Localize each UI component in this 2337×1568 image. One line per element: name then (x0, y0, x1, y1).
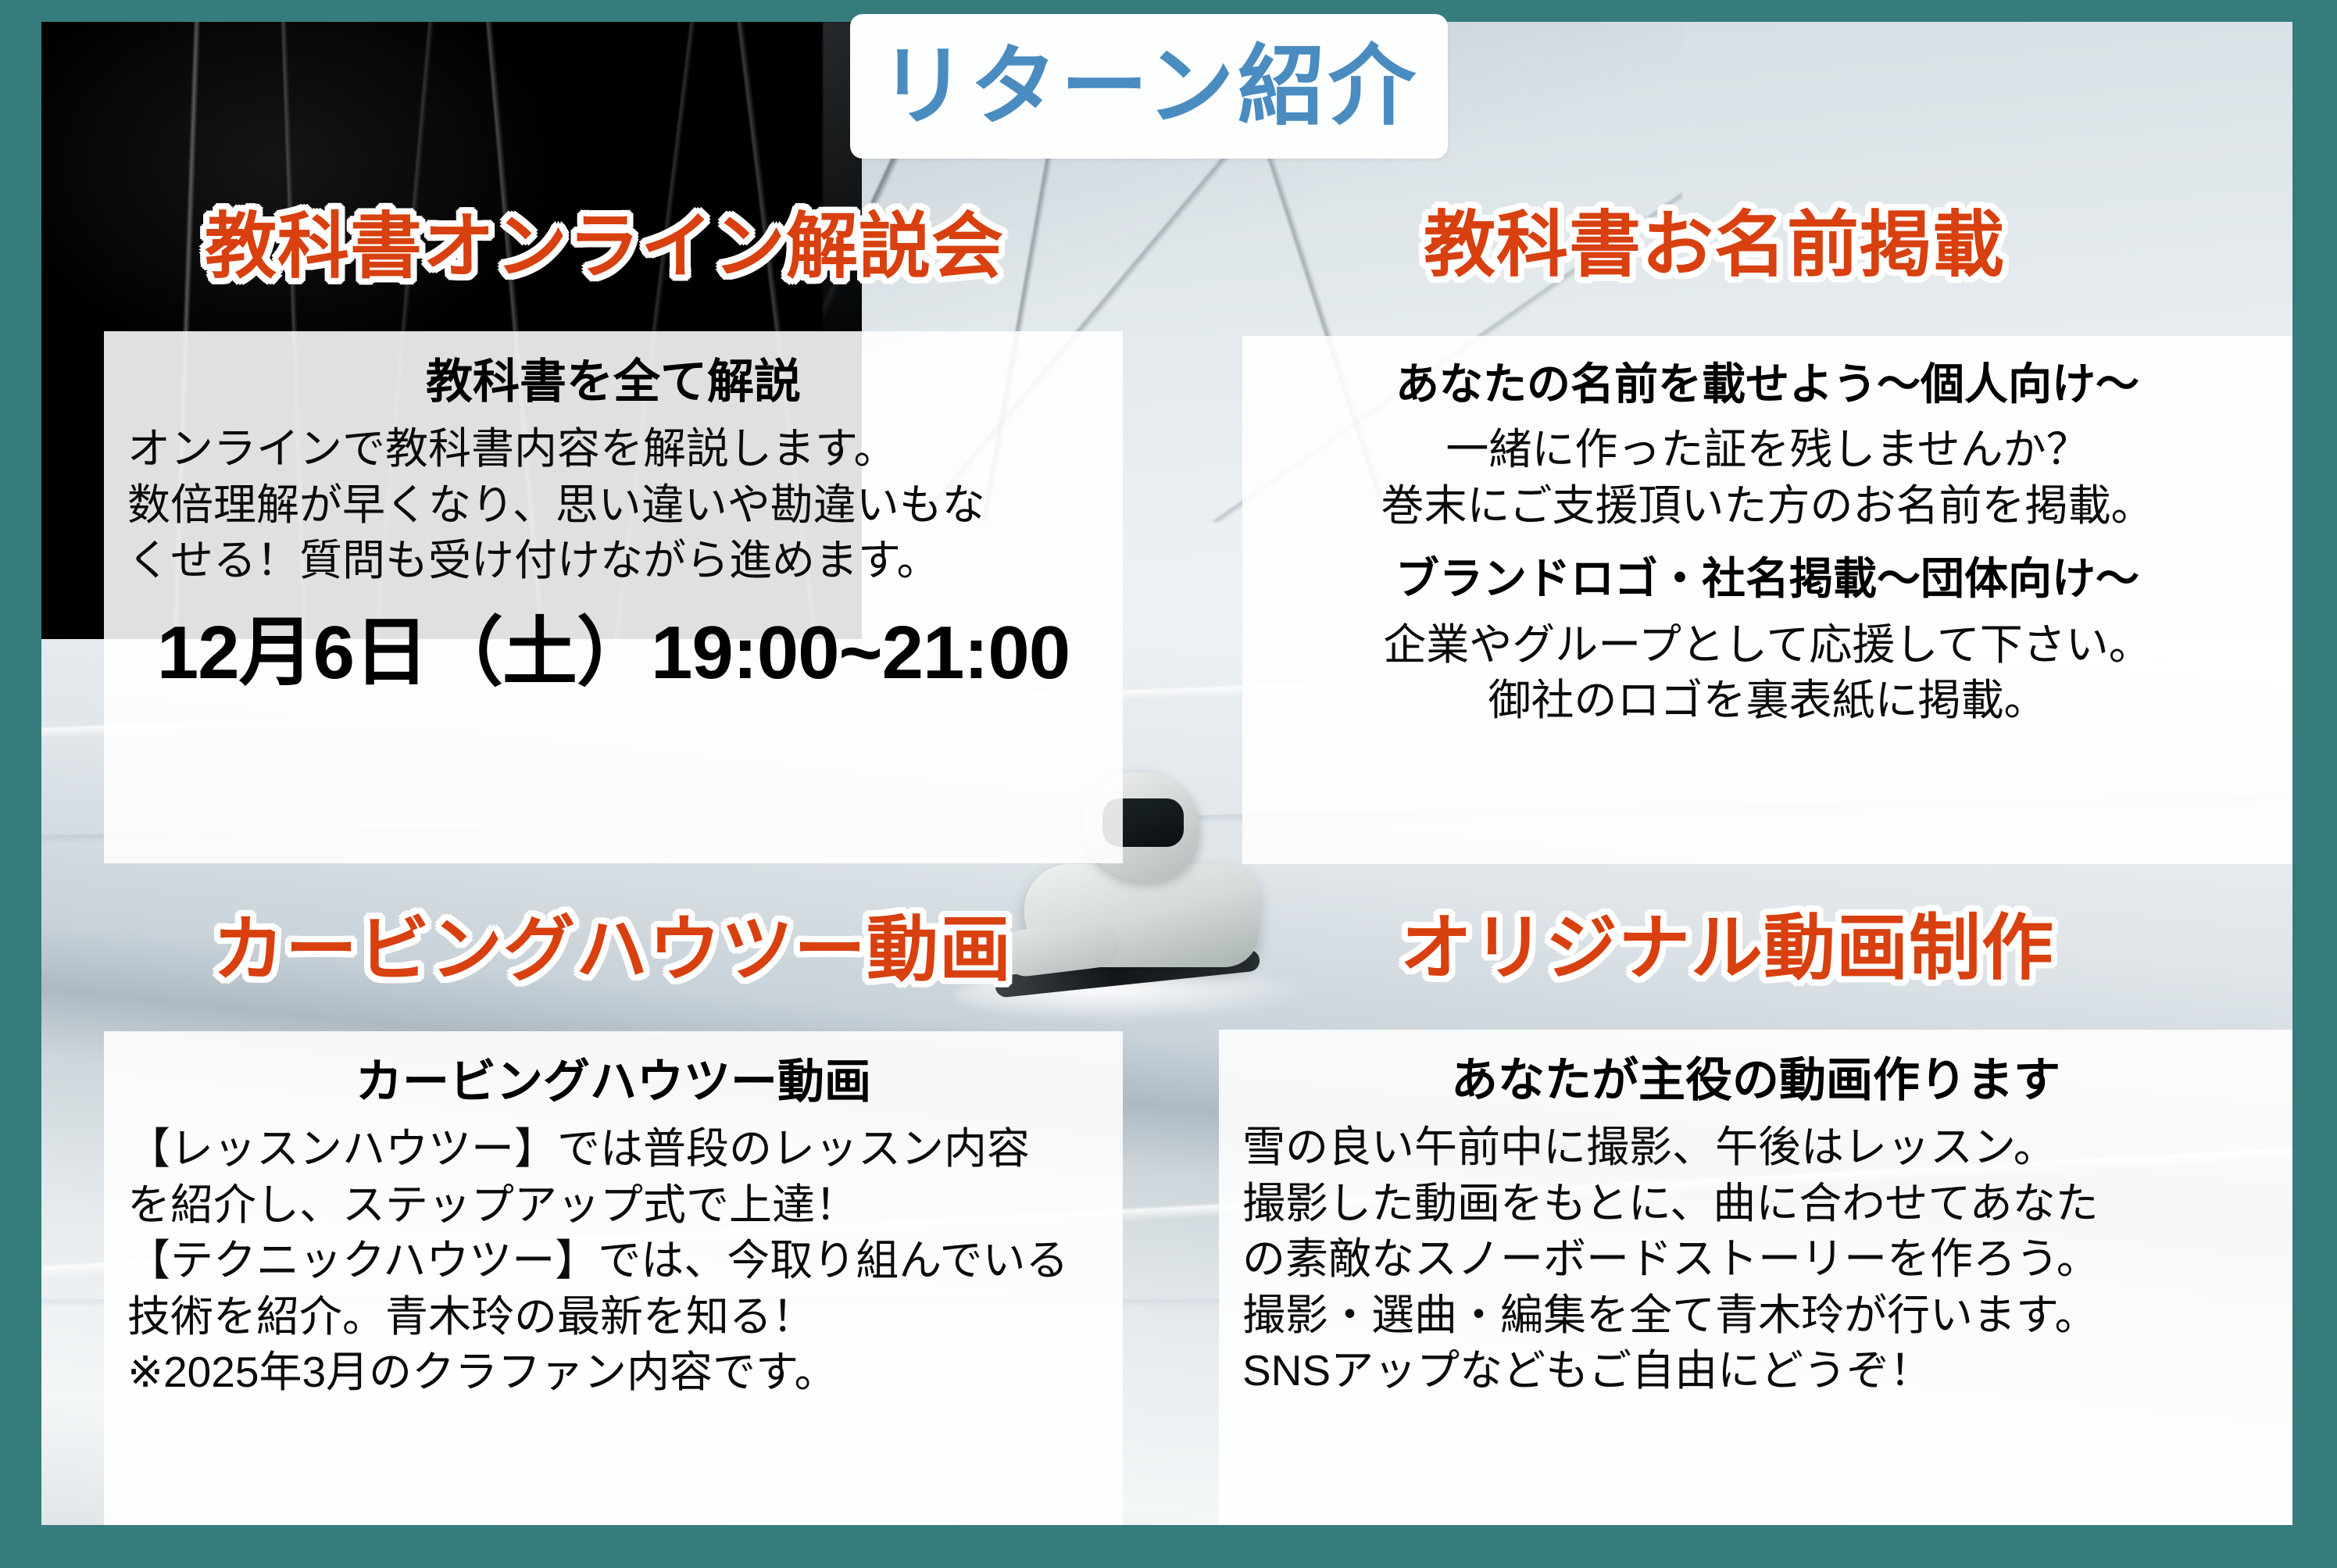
card-original-video: あなたが主役の動画作ります 雪の良い午前中に撮影、午後はレッスン。 撮影した動画… (1219, 1030, 2292, 1525)
card-body-line: 撮影した動画をもとに、曲に合わせてあなた (1242, 1176, 2269, 1232)
card-body-line: 数倍理解が早くなり、思い違いや勘違いもな (127, 477, 1099, 534)
card-carving-howto-video: カービングハウツー動画 【レッスンハウツー】では普段のレッスン内容 を紹介し、ス… (104, 1031, 1123, 1525)
page-title: リターン紹介 (879, 43, 1418, 130)
card-subtitle: ブランドロゴ・社名掲載〜団体向け〜 (1266, 552, 2269, 605)
card-body-line: の素敵なスノーボードストーリーを作ろう。 (1242, 1231, 2269, 1288)
section-heading-original-video: オリジナル動画制作 (1400, 913, 2054, 984)
card-subtitle: あなたが主役の動画作ります (1242, 1052, 2269, 1109)
card-body-line: 御社のロゴを裏表紙に掲載。 (1266, 673, 2269, 729)
card-event-date: 12月6日（土）19:00~21:00 (127, 616, 1099, 691)
card-body-line: を紹介し、ステップアップ式で上達！ (127, 1177, 1099, 1234)
section-heading-name-listing: 教科書お名前掲載 (1424, 209, 2005, 281)
card-body-line: 撮影・選曲・編集を全て青木玲が行います。 (1242, 1288, 2269, 1344)
card-name-listing: あなたの名前を載せよう〜個人向け〜 一緒に作った証を残しませんか？ 巻末にご支援… (1242, 336, 2292, 864)
card-body-line: オンラインで教科書内容を解説します。 (127, 421, 1099, 477)
card-online-lecture: 教科書を全て解説 オンラインで教科書内容を解説します。 数倍理解が早くなり、思い… (104, 331, 1123, 863)
card-body-line: 【レッスンハウツー】では普段のレッスン内容 (127, 1121, 1099, 1177)
section-heading-carving-howto-video: カービングハウツー動画 (213, 914, 1012, 986)
card-body-line: 雪の良い午前中に撮影、午後はレッスン。 (1242, 1120, 2269, 1176)
card-body-line: ※2025年3月のクラファン内容です。 (127, 1345, 1099, 1401)
card-subtitle: 教科書を全て解説 (127, 353, 1099, 410)
return-rewards-poster: リターン紹介 教科書オンライン解説会 教科書お名前掲載 カービングハウツー動画 … (0, 0, 2337, 1568)
card-body-line: くせる！質問も受け付けながら進めます。 (127, 533, 1099, 589)
card-body-line: 企業やグループとして応援して下さい。 (1266, 617, 2269, 673)
card-body-line: 巻末にご支援頂いた方のお名前を掲載。 (1266, 478, 2269, 534)
card-subtitle: カービングハウツー動画 (127, 1053, 1099, 1110)
card-subtitle: あなたの名前を載せよう〜個人向け〜 (1266, 358, 2269, 411)
card-body-line: SNSアップなどもご自由にどうぞ！ (1242, 1343, 2269, 1399)
card-body-line: 【テクニックハウツー】では、今取り組んでいる (127, 1233, 1099, 1289)
spacer (1266, 534, 2269, 548)
card-body-line: 技術を紹介。青木玲の最新を知る！ (127, 1289, 1099, 1345)
card-body-line: 一緒に作った証を残しませんか？ (1266, 422, 2269, 478)
section-heading-online-lecture: 教科書オンライン解説会 (205, 211, 1004, 283)
page-title-banner: リターン紹介 (850, 14, 1448, 159)
